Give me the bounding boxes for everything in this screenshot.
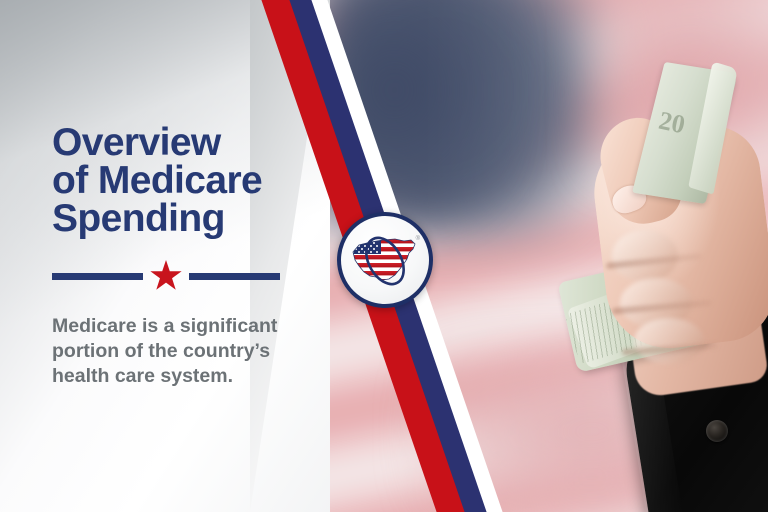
logo-badge-inner: ® [341, 216, 429, 304]
divider-rule-left [52, 273, 143, 280]
divider [52, 260, 280, 292]
suit-sleeve-button-icon [706, 420, 728, 442]
divider-star [143, 260, 189, 292]
star-icon [150, 260, 182, 292]
page-title: Overview of Medicare Spending [52, 124, 302, 238]
text-content: Overview of Medicare Spending Medicare i… [52, 124, 302, 389]
banner-image: 50 20 Overview of Medicare Spending [0, 0, 768, 512]
usa-map-flag-icon [349, 232, 423, 294]
registered-mark: ® [416, 236, 420, 242]
knuckle [634, 318, 704, 364]
logo-badge: ® [337, 212, 433, 308]
divider-rule-right [189, 273, 280, 280]
page-subtitle: Medicare is a significant portion of the… [52, 314, 284, 389]
